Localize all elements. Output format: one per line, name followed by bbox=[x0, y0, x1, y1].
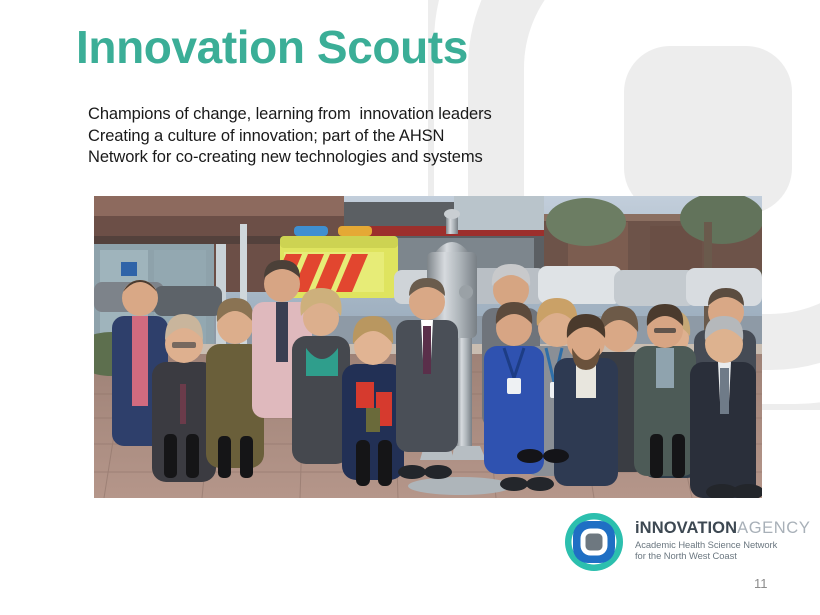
logo-subtitle-line-2: for the North West Coast bbox=[635, 550, 800, 561]
logo-wordmark-line: iNNOVATIONAGENCY bbox=[635, 519, 800, 537]
group-photo bbox=[94, 196, 762, 498]
slide-canvas: Innovation Scouts Champions of change, l… bbox=[0, 0, 820, 615]
slide-body-text: Champions of change, learning from innov… bbox=[88, 104, 492, 169]
logo-word-innovation: iNNOVATION bbox=[635, 519, 737, 537]
body-line-1: Champions of change, learning from innov… bbox=[88, 104, 492, 126]
body-line-2: Creating a culture of innovation; part o… bbox=[88, 126, 492, 148]
slide-title: Innovation Scouts bbox=[76, 20, 468, 74]
body-line-3: Network for co-creating new technologies… bbox=[88, 147, 492, 169]
innovation-agency-mark-icon bbox=[563, 511, 625, 573]
innovation-agency-logo: iNNOVATIONAGENCY Academic Health Science… bbox=[563, 511, 795, 573]
logo-subtitle: Academic Health Science Network for the … bbox=[635, 539, 800, 562]
page-number: 11 bbox=[754, 576, 768, 591]
innovation-agency-wordmark: iNNOVATIONAGENCY Academic Health Science… bbox=[635, 519, 800, 562]
logo-word-agency: AGENCY bbox=[737, 519, 810, 537]
logo-subtitle-line-1: Academic Health Science Network bbox=[635, 539, 800, 550]
